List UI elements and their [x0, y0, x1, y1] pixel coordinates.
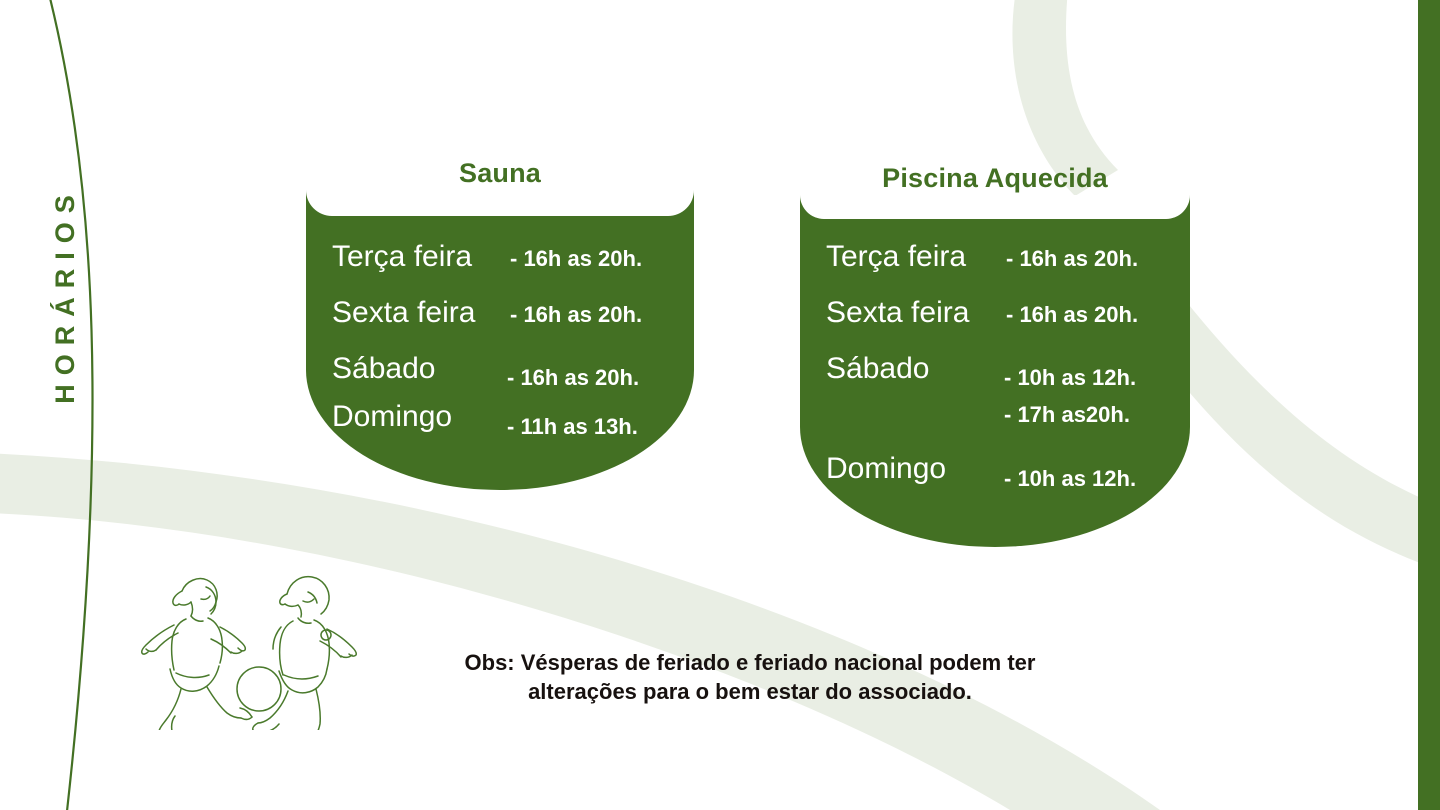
row-day: Domingo — [826, 452, 946, 486]
row-time: - 16h as 20h. — [510, 246, 642, 272]
soccer-ball — [237, 667, 281, 711]
row-time: - 16h as 20h. — [1006, 302, 1138, 328]
row-day: Sábado — [826, 352, 929, 386]
footnote: Obs: Vésperas de feriado e feriado nacio… — [330, 648, 1170, 706]
row-day: Terça feira — [332, 240, 472, 274]
slide-canvas: HORÁRIOS Sauna Terça feira - 16h as 20h.… — [0, 0, 1440, 810]
row-day: Sábado — [332, 352, 435, 386]
footnote-line-1: Obs: Vésperas de feriado e feriado nacio… — [330, 648, 1170, 677]
row-day: Domingo — [332, 400, 452, 434]
card-body-sauna — [306, 190, 694, 490]
row-time: - 11h as 13h. — [507, 414, 638, 440]
row-time: - 16h as 20h. — [510, 302, 642, 328]
child-girl — [142, 579, 252, 730]
row-time-secondary: - 17h as20h. — [1004, 402, 1130, 428]
page-title-text: HORÁRIOS — [50, 186, 81, 404]
row-time: - 10h as 12h. — [1004, 466, 1136, 492]
page-title-vertical: HORÁRIOS — [45, 170, 85, 420]
card-notch-piscina — [800, 195, 1190, 219]
footnote-line-2: alterações para o bem estar do associado… — [330, 677, 1170, 706]
card-notch-sauna — [306, 190, 694, 216]
row-time: - 16h as 20h. — [1006, 246, 1138, 272]
row-day: Sexta feira — [826, 296, 969, 330]
right-accent-bar — [1418, 0, 1440, 810]
card-title-piscina: Piscina Aquecida — [800, 163, 1190, 194]
card-title-sauna: Sauna — [306, 158, 694, 189]
row-time: - 10h as 12h. — [1004, 365, 1136, 391]
row-day: Sexta feira — [332, 296, 475, 330]
row-time: - 16h as 20h. — [507, 365, 639, 391]
row-day: Terça feira — [826, 240, 966, 274]
